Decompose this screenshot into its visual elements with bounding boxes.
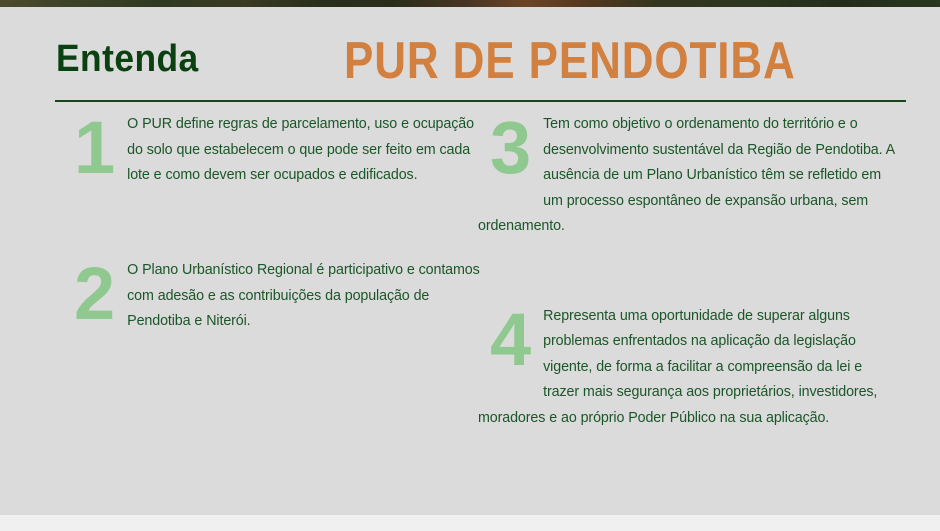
list-item: 1 O PUR define regras de parcelamento, u…	[62, 112, 482, 194]
item-number-3: 3	[490, 106, 529, 190]
page-title: PUR DE PENDOTIBA	[344, 32, 796, 88]
item-number-4: 4	[490, 298, 529, 382]
top-accent-strip	[0, 0, 940, 7]
list-item: 3 Tem como objetivo o ordenamento do ter…	[478, 112, 898, 240]
header-divider	[55, 100, 906, 102]
list-item: 2 O Plano Urbanístico Regional é partici…	[62, 258, 482, 340]
header: Entenda PUR DE PENDOTIBA	[0, 32, 940, 94]
column-left: 1 O PUR define regras de parcelamento, u…	[62, 112, 482, 276]
item-text-1: O PUR define regras de parcelamento, uso…	[62, 112, 482, 189]
item-text-2: O Plano Urbanístico Regional é participa…	[62, 258, 482, 335]
column-right: 3 Tem como objetivo o ordenamento do ter…	[478, 112, 898, 367]
item-number-2: 2	[74, 252, 113, 336]
list-item: 4 Representa uma oportunidade de superar…	[478, 304, 898, 432]
item-text-4: Representa uma oportunidade de superar a…	[478, 304, 898, 432]
item-text-3: Tem como objetivo o ordenamento do terri…	[478, 112, 898, 240]
bottom-band	[0, 515, 940, 531]
item-number-1: 1	[74, 106, 113, 190]
eyebrow-heading: Entenda	[56, 37, 199, 81]
infographic-canvas: Entenda PUR DE PENDOTIBA 1 O PUR define …	[0, 0, 940, 515]
